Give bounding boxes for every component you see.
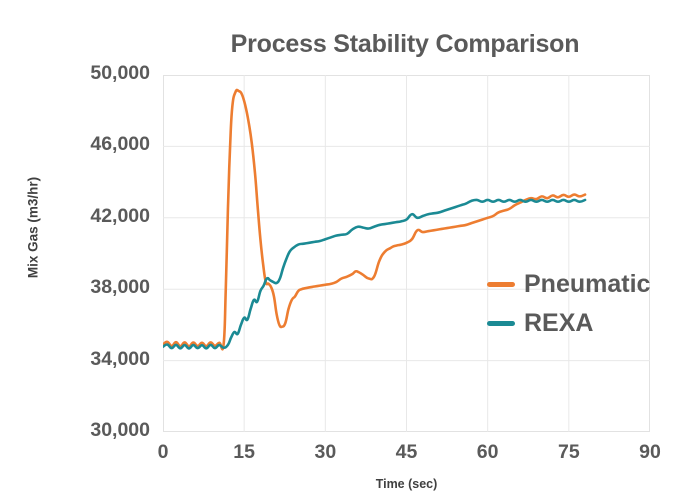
y-axis-tick: 38,000 bbox=[50, 276, 150, 299]
legend-item[interactable]: Pneumatic bbox=[487, 272, 650, 297]
y-axis-tick: 46,000 bbox=[50, 133, 150, 156]
x-axis-tick: 30 bbox=[295, 441, 355, 464]
x-axis-label: Time (sec) bbox=[163, 477, 650, 491]
x-axis-tick: 15 bbox=[214, 441, 274, 464]
legend-label: Pneumatic bbox=[524, 272, 650, 297]
x-axis-tick: 0 bbox=[133, 441, 193, 464]
x-axis-tick: 75 bbox=[539, 441, 599, 464]
chart-title: Process Stability Comparison bbox=[160, 30, 650, 59]
y-axis-tick-labels: 30,00034,00038,00042,00046,00050,000 bbox=[48, 0, 150, 502]
y-axis-label: Mix Gas (m3/hr) bbox=[26, 148, 41, 308]
plot-lines bbox=[163, 75, 650, 432]
y-axis-tick: 34,000 bbox=[50, 348, 150, 371]
x-axis-tick: 45 bbox=[377, 441, 437, 464]
y-axis-tick: 30,000 bbox=[50, 419, 150, 442]
chart-legend: PneumaticREXA bbox=[487, 272, 650, 336]
legend-swatch-icon bbox=[487, 321, 515, 326]
x-axis-tick: 60 bbox=[458, 441, 518, 464]
chart-container: Process Stability Comparison Mix Gas (m3… bbox=[0, 0, 695, 502]
x-axis-tick: 90 bbox=[620, 441, 680, 464]
y-axis-tick: 50,000 bbox=[50, 62, 150, 85]
legend-item[interactable]: REXA bbox=[487, 311, 650, 336]
y-axis-tick: 42,000 bbox=[50, 205, 150, 228]
legend-swatch-icon bbox=[487, 282, 515, 287]
legend-label: REXA bbox=[524, 311, 593, 336]
